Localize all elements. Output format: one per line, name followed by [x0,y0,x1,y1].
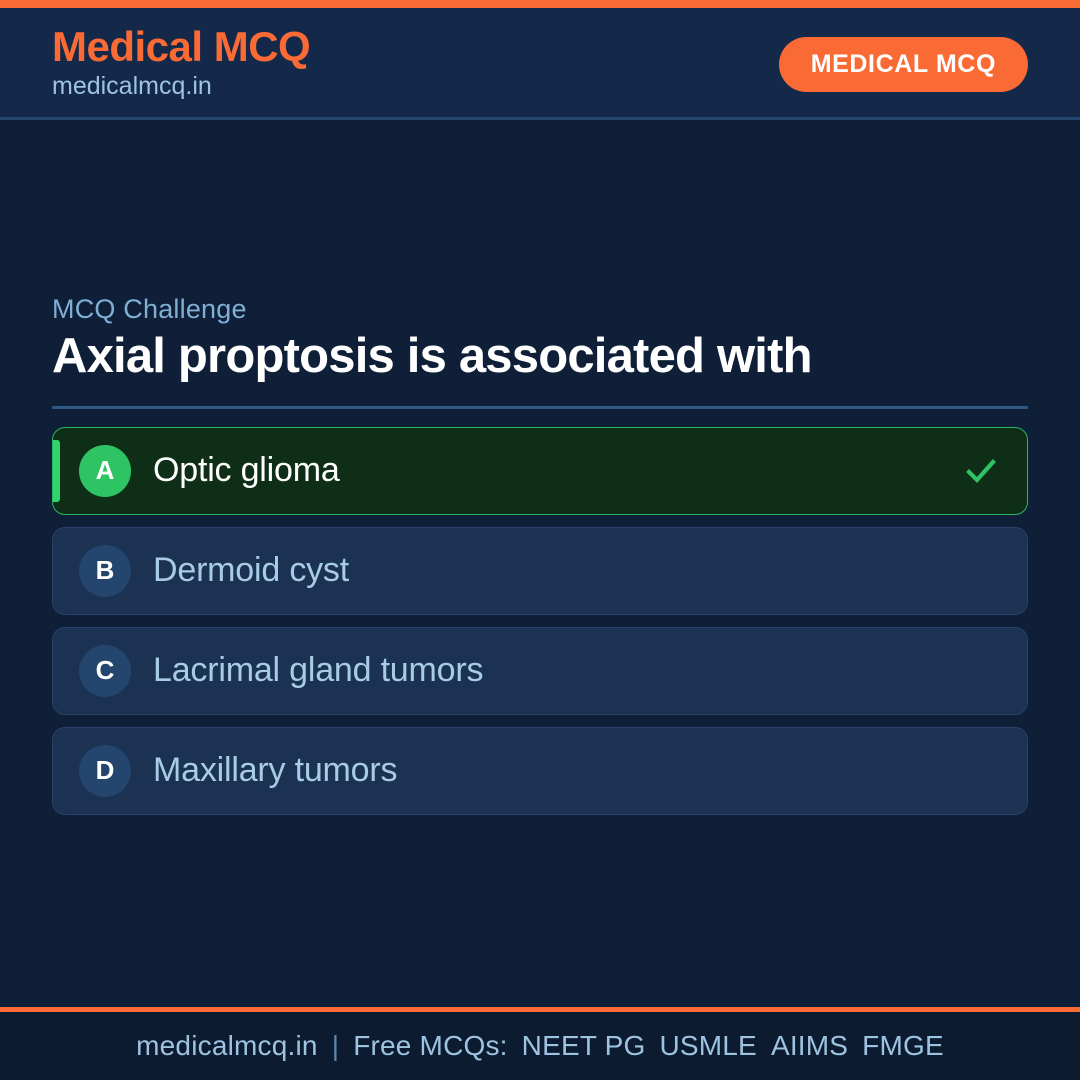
option-row-d[interactable]: D Maxillary tumors [52,727,1028,815]
option-row-c[interactable]: C Lacrimal gland tumors [52,627,1028,715]
footer-exam-aiims: AIIMS [771,1030,848,1062]
main-content: MCQ Challenge Axial proptosis is associa… [0,120,1080,1007]
brand: Medical MCQ medicalmcq.in [52,25,310,102]
question-divider [52,406,1028,409]
footer: medicalmcq.in | Free MCQs: NEET PG USMLE… [0,1007,1080,1080]
top-accent-bar [0,0,1080,8]
question-block: MCQ Challenge Axial proptosis is associa… [52,294,1028,427]
header-badge: MEDICAL MCQ [779,37,1028,92]
footer-exam-usmle: USMLE [659,1030,756,1062]
option-label-a: Optic glioma [153,451,340,490]
footer-exam-tags: NEET PG USMLE AIIMS FMGE [522,1030,944,1062]
option-label-c: Lacrimal gland tumors [153,651,483,690]
options-list: A Optic glioma B Dermoid cyst C Lacrimal… [52,427,1028,815]
mcq-card: Medical MCQ medicalmcq.in MEDICAL MCQ MC… [0,0,1080,1080]
brand-subtitle: medicalmcq.in [52,71,310,102]
footer-exam-fmge: FMGE [862,1030,944,1062]
option-label-d: Maxillary tumors [153,751,397,790]
footer-text: medicalmcq.in | Free MCQs: NEET PG USMLE… [136,1030,944,1062]
question-kicker: MCQ Challenge [52,294,1028,325]
option-letter-badge-a: A [79,445,131,497]
correct-accent-bar [53,440,60,502]
option-row-a[interactable]: A Optic glioma [52,427,1028,515]
option-letter-badge-b: B [79,545,131,597]
question-text: Axial proptosis is associated with [52,329,1028,384]
footer-exam-neetpg: NEET PG [522,1030,646,1062]
check-icon [961,451,1001,491]
footer-separator: | [332,1030,339,1062]
footer-site: medicalmcq.in [136,1030,318,1062]
footer-tagline: Free MCQs: [353,1030,507,1062]
option-row-b[interactable]: B Dermoid cyst [52,527,1028,615]
option-label-b: Dermoid cyst [153,551,349,590]
option-letter-badge-c: C [79,645,131,697]
option-letter-badge-d: D [79,745,131,797]
header: Medical MCQ medicalmcq.in MEDICAL MCQ [0,8,1080,120]
brand-title: Medical MCQ [52,25,310,69]
